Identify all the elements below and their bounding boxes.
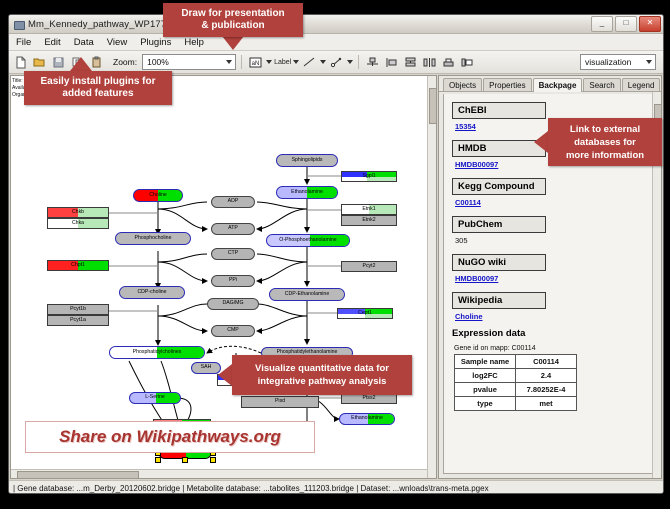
node-dag-mg[interactable]: DAG/MG <box>207 298 259 310</box>
toolbar-separator <box>241 55 242 69</box>
table-row: pvalue 7.80252E-4 <box>455 383 577 397</box>
callout-links-line1: Link to external <box>570 123 640 136</box>
node-ctp[interactable]: CTP <box>211 248 255 260</box>
cell-value: met <box>516 397 577 411</box>
node-label: Ptss2 <box>363 396 376 401</box>
node-sphingolipids[interactable]: Sphingolipids <box>276 154 338 167</box>
node-label: PPi <box>229 278 237 283</box>
node-choline-top[interactable]: Choline <box>133 189 183 202</box>
open-folder-icon[interactable] <box>31 54 48 71</box>
node-label: SAH <box>201 365 212 370</box>
align-left-icon[interactable] <box>383 54 400 71</box>
callout-draw-arrow-icon <box>222 36 244 50</box>
stack-icon[interactable] <box>402 54 419 71</box>
node-label: Sphingolipids <box>292 158 323 163</box>
callout-draw-line1: Draw for presentation <box>181 8 284 20</box>
app-icon <box>13 19 24 30</box>
node-label: CDP-choline <box>137 290 166 295</box>
tab-objects[interactable]: Objects <box>443 78 482 91</box>
datanode-chevron-down-icon[interactable] <box>266 60 272 64</box>
cell-value: 7.80252E-4 <box>516 383 577 397</box>
save-icon[interactable] <box>50 54 67 71</box>
node-cmp[interactable]: CMP <box>211 325 255 337</box>
node-sgpl1[interactable]: Sgpl1 <box>341 171 397 182</box>
node-label: CDP-Ethanolamine <box>285 292 329 297</box>
expression-data-title: Expression data <box>452 328 652 339</box>
callout-links-line3: more information <box>566 149 644 162</box>
callout-draw-line2: & publication <box>201 20 264 32</box>
label-chevron-down-icon[interactable] <box>293 60 299 64</box>
order-front-icon[interactable] <box>440 54 457 71</box>
node-label: Chpt1 <box>71 263 85 268</box>
visualization-value: visualization <box>585 57 631 67</box>
node-label: Pcyt1a <box>70 318 86 323</box>
menu-file[interactable]: File <box>14 36 33 49</box>
close-button[interactable]: ✕ <box>639 16 661 32</box>
callout-share-text: Share on Wikipathways.org <box>59 427 281 447</box>
node-label: Chkb <box>72 210 84 215</box>
node-label: Etnk1 <box>362 207 375 212</box>
canvas-hscrollbar[interactable] <box>11 469 436 478</box>
selection-handle[interactable] <box>210 457 216 463</box>
cell-value: 2.4 <box>516 369 577 383</box>
selection-handle[interactable] <box>182 457 188 463</box>
window-controls: _ □ ✕ <box>591 16 661 32</box>
zoom-combo[interactable]: 100% <box>142 54 236 70</box>
cell-key: type <box>455 397 516 411</box>
node-adp[interactable]: ADP <box>211 196 255 208</box>
callout-plugins: Easily install plugins for added feature… <box>24 71 172 105</box>
node-label: L-Serine <box>145 395 165 400</box>
canvas-hscroll-thumb[interactable] <box>17 471 139 479</box>
node-label: ATP <box>228 226 238 231</box>
node-ethanolamine[interactable]: Ethanolamine <box>276 186 338 199</box>
label-tool-label[interactable]: Label <box>274 59 291 66</box>
align-center-icon[interactable] <box>364 54 381 71</box>
line-chevron-down-icon[interactable] <box>320 60 326 64</box>
datanode-icon[interactable]: aN <box>247 54 264 71</box>
node-phosphatidylcholines[interactable]: Phosphatidylcholines <box>109 346 205 359</box>
node-label: Cept1 <box>358 311 372 316</box>
node-pcyt2[interactable]: Pcyt2 <box>341 261 397 272</box>
node-pcyt1a[interactable]: Pcyt1a <box>47 315 109 326</box>
callout-visualize: Visualize quantitative data for integrat… <box>232 355 412 395</box>
node-label: CMP <box>227 328 239 333</box>
node-l-serine-left[interactable]: L-Serine <box>129 392 181 404</box>
kegg-compound-link[interactable]: C00114 <box>455 198 652 207</box>
node-label: Sgpl1 <box>362 174 375 179</box>
side-panel-tabs: Objects Properties Backpage Search Legen… <box>439 76 661 92</box>
node-label: Phosphatidylcholines <box>133 350 182 355</box>
selection-handle[interactable] <box>155 457 161 463</box>
hmdb-header: HMDB <box>452 140 546 157</box>
pubchem-value: 305 <box>455 236 652 245</box>
callout-links-line2: databases for <box>574 136 636 149</box>
wikipedia-link[interactable]: Choline <box>455 312 652 321</box>
table-row: type met <box>455 397 577 411</box>
menu-data[interactable]: Data <box>72 36 96 49</box>
distribute-icon[interactable] <box>421 54 438 71</box>
callout-links-arrow-icon <box>534 131 548 153</box>
nugo-wiki-link[interactable]: HMDB00097 <box>455 274 652 283</box>
pubchem-header: PubChem <box>452 216 546 233</box>
node-chkb[interactable]: Chkb <box>47 207 109 218</box>
node-label: Ethanolamine <box>291 190 323 195</box>
node-pisd[interactable]: Pisd <box>241 396 319 408</box>
tab-search[interactable]: Search <box>583 78 620 91</box>
callout-links: Link to external databases for more info… <box>548 118 662 166</box>
zoom-value: 100% <box>147 57 169 67</box>
callout-plugins-line1: Easily install plugins for <box>40 76 155 88</box>
anchor-icon[interactable] <box>328 54 345 71</box>
tab-properties[interactable]: Properties <box>483 78 531 91</box>
node-label: Phosphocholine <box>135 236 172 241</box>
node-label: DAG/MG <box>222 301 243 306</box>
statusbar-text: | Gene database: ...m_Derby_20120602.bri… <box>13 484 489 493</box>
node-o-phosphoethanolamine[interactable]: O-Phosphoethanolamine <box>266 234 350 247</box>
window-titlebar: Mm_Kennedy_pathway_WP1771_45176.gpml _ □… <box>9 15 663 34</box>
table-row: log2FC 2.4 <box>455 369 577 383</box>
tab-legend[interactable]: Legend <box>622 78 661 91</box>
node-etnk2[interactable]: Etnk2 <box>341 215 397 226</box>
order-back-icon[interactable] <box>459 54 476 71</box>
callout-visualize-line1: Visualize quantitative data for <box>255 362 389 375</box>
menu-edit[interactable]: Edit <box>42 36 62 49</box>
visualization-chevron-down-icon <box>644 58 653 67</box>
kegg-compound-header: Kegg Compound <box>452 178 546 195</box>
node-label: Ethanolamine <box>351 416 383 421</box>
node-ppi[interactable]: PPi <box>211 275 255 287</box>
callout-plugins-line2: added features <box>62 88 133 100</box>
svg-text:aN: aN <box>252 61 260 67</box>
table-row: Sample name C00114 <box>455 355 577 369</box>
toolbar-separator-2 <box>358 55 359 69</box>
cell-key: Sample name <box>455 355 516 369</box>
cell-key: pvalue <box>455 383 516 397</box>
node-label: CTP <box>228 251 238 256</box>
maximize-button[interactable]: □ <box>615 16 637 32</box>
anchor-chevron-down-icon[interactable] <box>347 60 353 64</box>
cell-key: log2FC <box>455 369 516 383</box>
node-chka[interactable]: Chka <box>47 218 109 229</box>
visualization-combo[interactable]: visualization <box>580 54 656 70</box>
node-cdp-choline[interactable]: CDP-choline <box>119 286 185 299</box>
node-cept1[interactable]: Cept1 <box>337 308 393 319</box>
canvas-vscrollbar[interactable] <box>427 76 436 478</box>
node-label: Chka <box>72 221 84 226</box>
node-etnk1[interactable]: Etnk1 <box>341 204 397 215</box>
node-label: Pcyt1b <box>70 307 86 312</box>
node-cdp-ethanolamine[interactable]: CDP-Ethanolamine <box>269 288 345 301</box>
statusbar: | Gene database: ...m_Derby_20120602.bri… <box>9 480 663 494</box>
nugo-wiki-header: NuGO wiki <box>452 254 546 271</box>
cell-value: C00114 <box>516 355 577 369</box>
node-label: ADP <box>228 199 239 204</box>
chebi-header: ChEBI <box>452 102 546 119</box>
node-atp[interactable]: ATP <box>211 223 255 235</box>
screenshot-root: Mm_Kennedy_pathway_WP1771_45176.gpml _ □… <box>0 0 670 509</box>
node-sah[interactable]: SAH <box>191 362 221 374</box>
node-label: Pisd <box>275 399 285 404</box>
callout-visualize-arrow-icon <box>218 364 232 386</box>
line-icon[interactable] <box>301 54 318 71</box>
node-chpt1[interactable]: Chpt1 <box>47 260 109 271</box>
menubar: File Edit Data View Plugins Help <box>9 34 663 51</box>
new-file-icon[interactable] <box>12 54 29 71</box>
wikipedia-header: Wikipedia <box>452 292 546 309</box>
callout-plugins-arrow-icon <box>70 57 92 71</box>
node-label: O-Phosphoethanolamine <box>279 238 336 243</box>
expression-table: Sample name C00114 log2FC 2.4 pvalue 7.8… <box>454 354 577 411</box>
node-phosphocholine[interactable]: Phosphocholine <box>115 232 191 245</box>
tab-backpage[interactable]: Backpage <box>533 78 583 92</box>
node-label: Etnk2 <box>362 218 375 223</box>
chevron-down-icon <box>224 58 233 67</box>
menu-plugins[interactable]: Plugins <box>138 36 173 49</box>
callout-visualize-line2: integrative pathway analysis <box>258 375 387 388</box>
callout-share: Share on Wikipathways.org <box>25 421 315 453</box>
node-ethanolamine-right[interactable]: Ethanolamine <box>339 413 395 425</box>
node-label: Choline <box>149 193 167 198</box>
callout-draw: Draw for presentation & publication <box>163 3 303 37</box>
node-label: Pcyt2 <box>363 264 376 269</box>
gene-id-line: Gene id on mapp: C00114 <box>454 345 652 352</box>
node-pcyt1b[interactable]: Pcyt1b <box>47 304 109 315</box>
minimize-button[interactable]: _ <box>591 16 613 32</box>
pathway-canvas[interactable]: Title: Availa Organ <box>10 75 437 479</box>
canvas-vscroll-thumb[interactable] <box>429 88 437 124</box>
menu-view[interactable]: View <box>105 36 129 49</box>
zoom-label: Zoom: <box>113 57 137 67</box>
menu-help[interactable]: Help <box>182 36 206 49</box>
